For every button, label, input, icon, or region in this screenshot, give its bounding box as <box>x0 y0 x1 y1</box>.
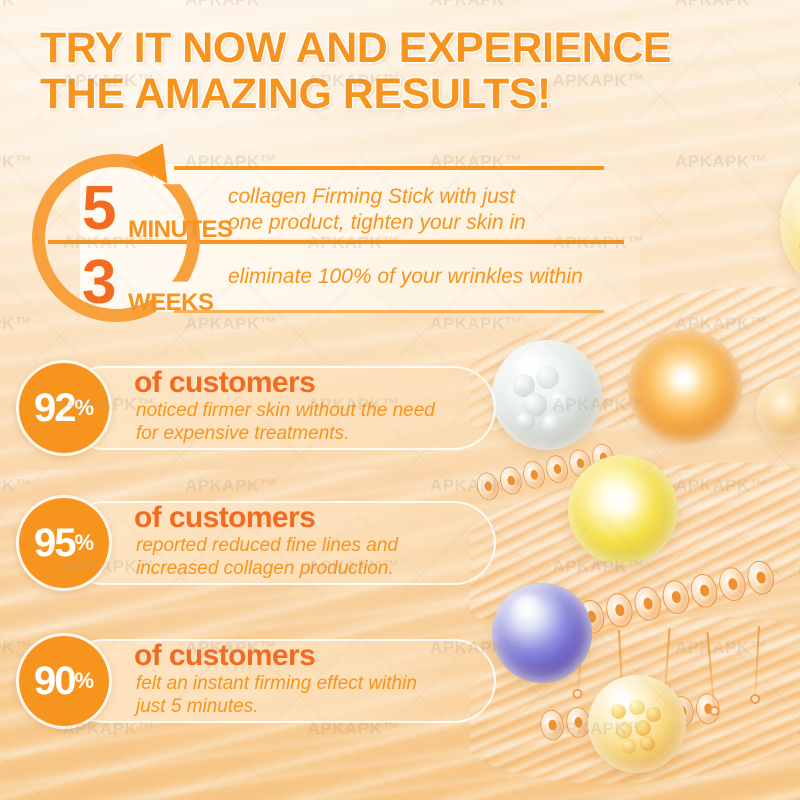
stat-card: 90% of customers felt an instant firming… <box>16 633 496 729</box>
stat-body: reported reduced fine lines and increase… <box>136 535 398 581</box>
timing-text-bottom: eliminate 100% of your wrinkles within <box>228 264 583 290</box>
stat-body-line1: noticed firmer skin without the need <box>136 400 435 423</box>
stat-body-line1: reported reduced fine lines and <box>136 535 398 558</box>
stat-percent: 92% <box>19 388 109 428</box>
stat-badge: 92% <box>16 360 112 456</box>
stat-card: 95% of customers reported reduced fine l… <box>16 495 496 591</box>
timing-callout: 5 MINUTES 3 WEEKS collagen Firming Stick… <box>24 152 644 324</box>
timing-number-minutes: 5 <box>82 178 114 240</box>
timing-text-top-line1: collagen Firming Stick with just <box>228 184 526 210</box>
stat-body-line1: felt an instant firming effect within <box>136 673 417 696</box>
timing-unit-minutes: MINUTES <box>128 216 233 244</box>
stat-body-line2: just 5 minutes. <box>136 696 417 719</box>
stat-heading: of customers <box>134 501 315 535</box>
headline-line-1: TRY IT NOW AND EXPERIENCE <box>40 26 740 72</box>
stat-badge: 90% <box>16 633 112 729</box>
headline-line-2: THE AMAZING RESULTS! <box>40 72 740 118</box>
stat-badge: 95% <box>16 495 112 591</box>
stat-body-line2: increased collagen production. <box>136 558 398 581</box>
stat-heading: of customers <box>134 366 315 400</box>
timing-unit-weeks: WEEKS <box>128 289 214 317</box>
timing-number-weeks: 3 <box>82 252 114 314</box>
stat-percent: 95% <box>19 523 109 563</box>
stat-card: 92% of customers noticed firmer skin wit… <box>16 360 496 456</box>
timing-rule-bottom <box>174 310 604 313</box>
timing-text-top: collagen Firming Stick with just one pro… <box>228 184 526 235</box>
stat-body-line2: for expensive treatments. <box>136 423 435 446</box>
stat-body: felt an instant firming effect within ju… <box>136 673 417 719</box>
stat-percent: 90% <box>19 661 109 701</box>
stat-body: noticed firmer skin without the need for… <box>136 400 435 446</box>
timing-text-top-line2: one product, tighten your skin in <box>228 210 526 236</box>
page-title: TRY IT NOW AND EXPERIENCE THE AMAZING RE… <box>40 26 740 117</box>
stat-heading: of customers <box>134 639 315 673</box>
timing-rule-top <box>174 166 604 170</box>
